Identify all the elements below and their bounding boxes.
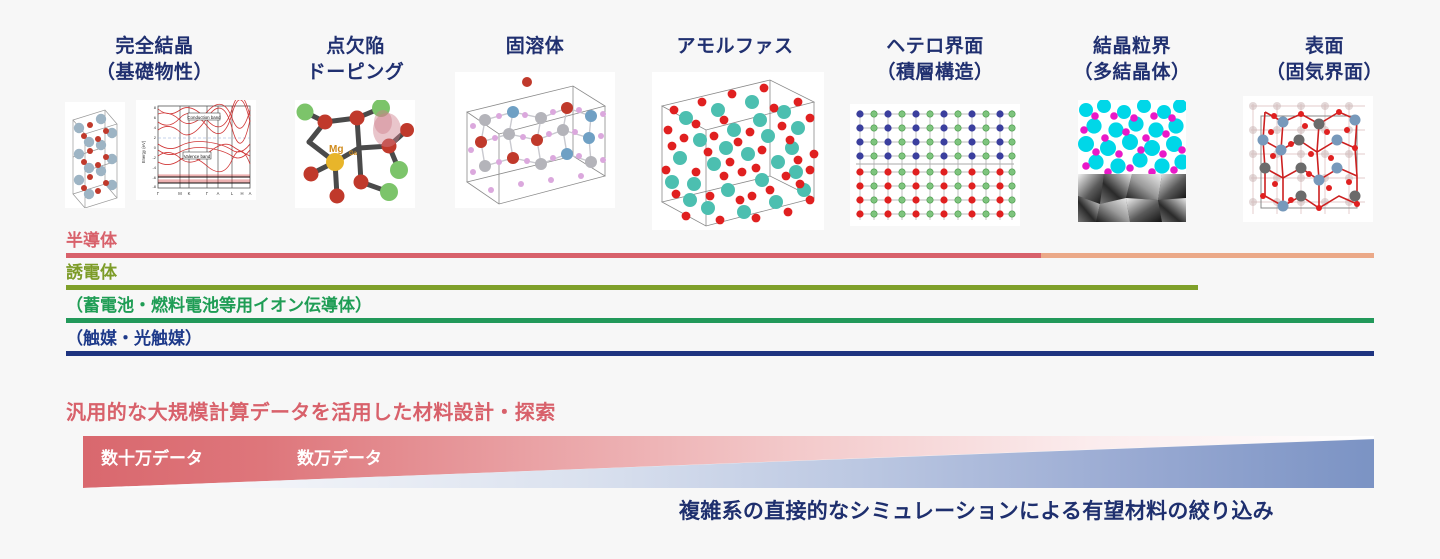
column-header-amorphous: アモルファス [640,34,830,60]
thumbnail-crystal-unit-cell [65,102,125,208]
thumbnail-hetero-lattice [850,104,1020,226]
svg-text:Energy (eV): Energy (eV) [141,140,146,163]
bar-dielectric [66,285,1198,290]
bar-semiconductor-tail [1041,253,1374,258]
section-title-data-driven-design: 汎用的な大規模計算データを活用した材料設計・探索 [66,396,556,425]
wedge-label-tens-thousands: 数万データ [297,444,382,469]
thumbnail-solid-solution-cell [455,72,615,208]
bottom-caption-direct-simulation: 複雑系の直接的なシミュレーションによる有望材料の絞り込み [679,495,1274,525]
thumbnail-dopant-structure: Mg Ga [295,100,415,208]
svg-text:A: A [217,191,220,196]
bar-label-dielectric: 誘電体 [66,263,117,283]
bar-ion-conductor [66,318,1374,323]
svg-text:M: M [178,191,182,196]
svg-text:Mg: Mg [329,144,343,155]
svg-text:Conduction band: Conduction band [187,115,221,120]
thumbnail-amorphous-cell [652,72,824,230]
svg-text:A: A [249,191,252,196]
wedge-label-hundreds-thousands: 数十万データ [101,444,203,469]
svg-text:K: K [188,191,191,196]
bar-label-catalyst: （触媒・光触媒） [66,329,202,349]
column-header-surface: 表面 （固気界面） [1242,34,1407,86]
svg-text:Valence band: Valence band [184,154,211,159]
svg-text:Ga: Ga [349,151,358,157]
bar-catalyst [66,351,1374,356]
slide-root: 完全結晶 （基礎物性） 点欠陥 ドーピング 固溶体 アモルファス ヘテロ界面 （… [0,0,1440,559]
thumbnail-band-structure: Conduction band Valence band Energy (eV)… [136,100,256,200]
column-header-solid-solution: 固溶体 [455,34,615,60]
svg-text:H: H [240,191,243,196]
thumbnail-surface-slab [1243,96,1373,222]
column-header-perfect-crystal: 完全結晶 （基礎物性） [62,34,247,86]
bar-label-semiconductor: 半導体 [66,231,117,251]
bar-label-ion-conductor: （蓄電池・燃料電池等用イオン伝導体） [66,296,372,316]
column-header-hetero-interface: ヘテロ界面 （積層構造） [845,34,1025,86]
column-header-grain-boundary: 結晶粒界 （多結晶体） [1042,34,1222,86]
data-scale-wedge [83,436,1374,488]
column-header-point-defect: 点欠陥 ドーピング [268,34,443,86]
thumbnail-grain-boundary-image [1078,100,1186,222]
bar-semiconductor [66,253,1041,258]
